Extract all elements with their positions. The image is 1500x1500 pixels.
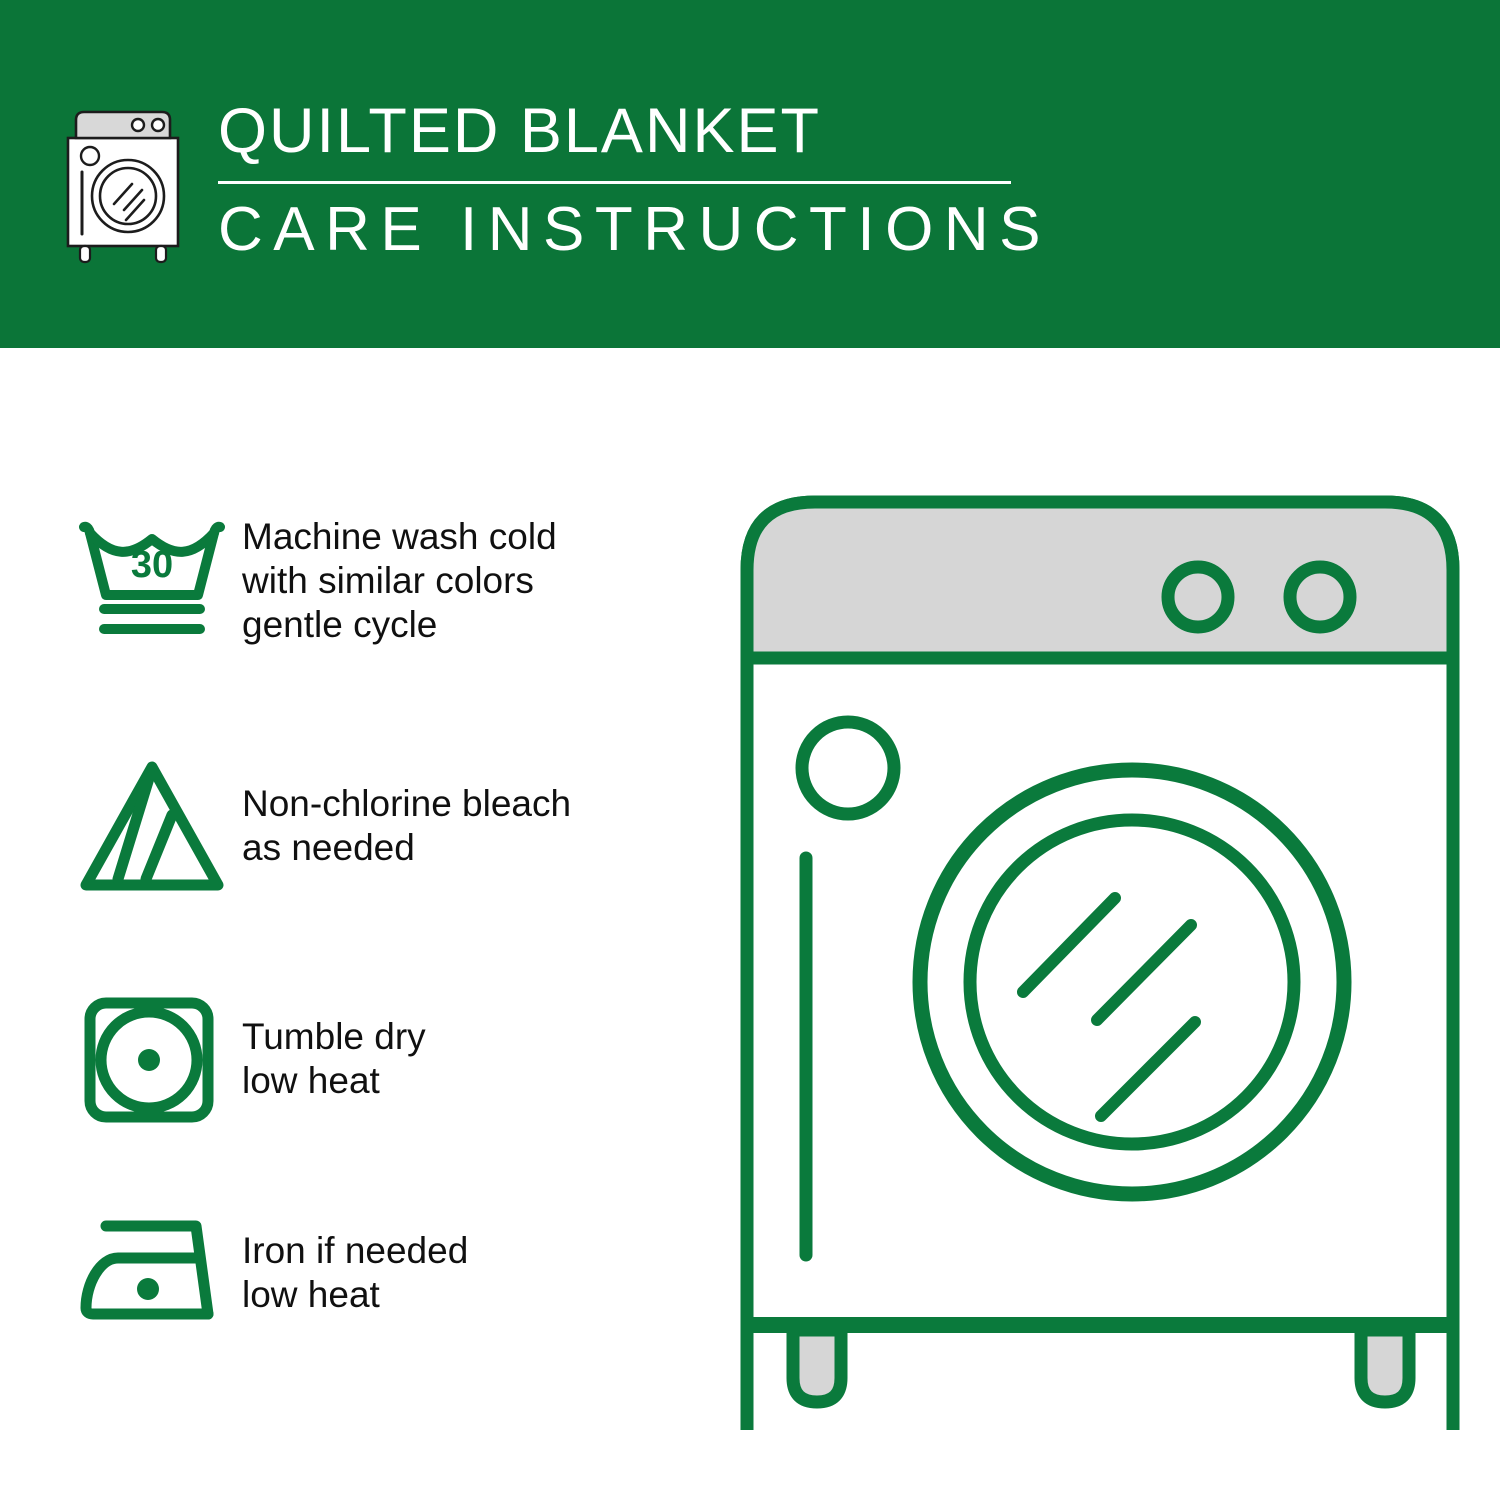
care-instructions-list: 30 Machine wash cold with similar colors… bbox=[0, 348, 740, 1500]
leg-right bbox=[1361, 1330, 1409, 1402]
page-subtitle: CARE INSTRUCTIONS bbox=[218, 196, 1051, 264]
list-item-label: Tumble dry low heat bbox=[242, 1015, 426, 1103]
page-title: QUILTED BLANKET bbox=[218, 98, 1051, 164]
iron-low-heat-icon bbox=[72, 1210, 242, 1335]
instruction-icon-wrapper: 30 bbox=[72, 515, 242, 647]
instruction-icon-wrapper bbox=[72, 753, 242, 898]
wash-temperature-label: 30 bbox=[131, 544, 173, 586]
title-divider bbox=[218, 181, 1011, 184]
instruction-icon-wrapper bbox=[72, 989, 242, 1129]
header-banner: QUILTED BLANKET CARE INSTRUCTIONS bbox=[0, 0, 1500, 348]
non-chlorine-bleach-triangle-icon bbox=[72, 753, 232, 898]
header-content: QUILTED BLANKET CARE INSTRUCTIONS bbox=[62, 98, 1051, 268]
instruction-icon-wrapper bbox=[72, 1210, 242, 1335]
list-item-label: Non-chlorine bleach as needed bbox=[242, 782, 571, 870]
list-item: Tumble dry low heat bbox=[72, 989, 426, 1129]
header-title-block: QUILTED BLANKET CARE INSTRUCTIONS bbox=[218, 98, 1051, 264]
list-item-label: Iron if needed low heat bbox=[242, 1229, 468, 1317]
list-item: 30 Machine wash cold with similar colors… bbox=[72, 515, 557, 647]
front-load-washing-machine-illustration bbox=[735, 480, 1465, 1430]
tumble-dry-low-icon bbox=[72, 989, 232, 1129]
washing-machine-icon bbox=[62, 108, 184, 268]
list-item: Iron if needed low heat bbox=[72, 1210, 468, 1335]
list-item: Non-chlorine bleach as needed bbox=[72, 753, 571, 898]
leg-left bbox=[793, 1330, 841, 1402]
list-item-label: Machine wash cold with similar colors ge… bbox=[242, 515, 557, 647]
wash-tub-30-icon: 30 bbox=[72, 515, 232, 647]
